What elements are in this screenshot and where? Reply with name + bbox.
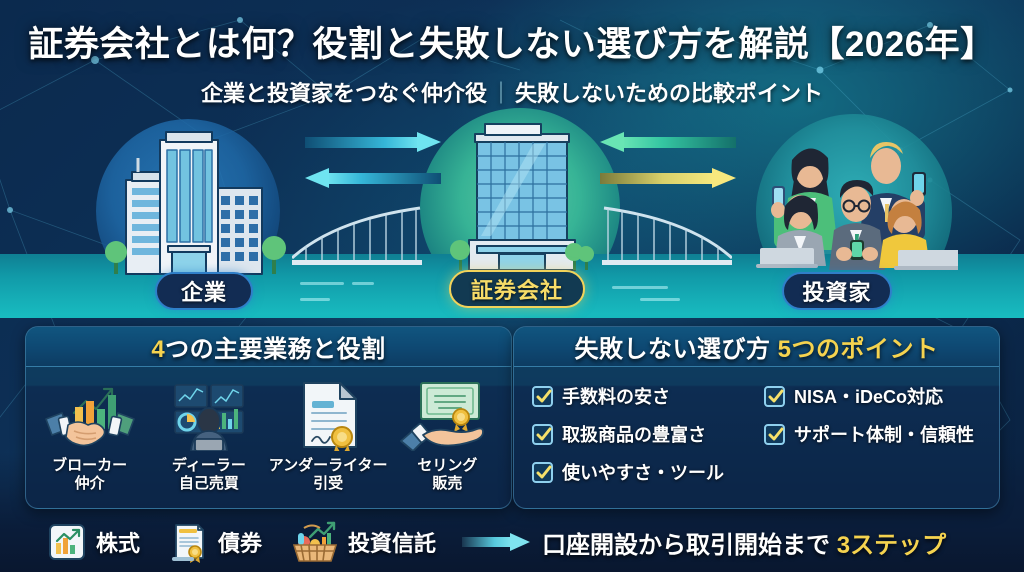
- subtitle-separator: ｜: [487, 81, 515, 106]
- role-item-underwriter[interactable]: アンダーライター 引受: [269, 375, 388, 504]
- cta-label: 口座開設から取引開始まで 3ステップ: [542, 525, 946, 560]
- panel-selection-points: 失敗しない選び方 5つのポイント 手数料の安さ NISA・iDeCo対応: [513, 326, 1000, 509]
- water-line: [352, 282, 374, 285]
- subtitle-left: 企業と投資家をつなぐ仲介役: [201, 81, 487, 106]
- role-item-dealer-caption: ディーラー 自己売買: [172, 457, 246, 492]
- points-title-text: 失敗しない選び方: [574, 336, 777, 363]
- role-label-line1: ディーラー: [172, 457, 246, 475]
- checkbox-icon[interactable]: [764, 424, 785, 445]
- node-label-securities-firm[interactable]: 証券会社: [449, 270, 585, 308]
- cta-step-count: 3: [837, 532, 850, 559]
- cta-arrow-icon: [462, 533, 530, 551]
- node-label-investor[interactable]: 投資家: [782, 272, 892, 310]
- checklist-label: 使いやすさ・ツール: [562, 459, 724, 485]
- cta-text-tail: ステップ: [850, 532, 946, 559]
- cta-steps[interactable]: 口座開設から取引開始まで 3ステップ: [462, 525, 946, 560]
- checkbox-icon[interactable]: [532, 462, 553, 483]
- checklist-label: 取扱商品の豊富さ: [562, 421, 706, 447]
- cta-text-main: 口座開設から取引開始まで: [542, 532, 837, 559]
- checklist-label: サポート体制・信頼性: [794, 421, 974, 447]
- panel-main-roles-header: 4つの主要業務と役割: [26, 327, 511, 367]
- office-buildings-icon: [92, 128, 292, 278]
- bottom-bar: 株式: [0, 512, 1024, 572]
- investors-group-icon: [752, 124, 958, 276]
- basket-icon: [292, 521, 338, 563]
- product-name: 債券: [218, 526, 262, 558]
- bar-chart-icon: [48, 523, 86, 561]
- document-seal-icon: [280, 375, 376, 455]
- panel-selection-points-header: 失敗しない選び方 5つのポイント: [514, 327, 999, 367]
- panel-main-roles-title: 4つの主要業務と役割: [151, 329, 385, 364]
- panel-main-roles: 4つの主要業務と役割: [25, 326, 512, 509]
- checklist-item-product-variety[interactable]: 取扱商品の豊富さ: [532, 415, 764, 453]
- bridge-right-icon: [602, 206, 732, 276]
- checklist-item-fees[interactable]: 手数料の安さ: [532, 377, 764, 415]
- role-label-line2: 販売: [417, 475, 477, 493]
- product-item-funds[interactable]: 投資信託: [292, 521, 436, 563]
- panel-selection-points-title: 失敗しない選び方 5つのポイント: [574, 329, 938, 364]
- checkbox-icon[interactable]: [532, 424, 553, 445]
- role-item-underwriter-caption: アンダーライター 引受: [269, 457, 388, 492]
- water-line: [300, 282, 344, 285]
- arrow-firm-to-corp-icon: [305, 168, 441, 189]
- role-label-line1: アンダーライター: [269, 457, 388, 475]
- points-count: 5: [778, 336, 792, 363]
- roles-grid: ブローカー 仲介: [26, 367, 511, 509]
- glass-tower-icon: [447, 118, 597, 278]
- checklist-item-nisa-ideco[interactable]: NISA・iDeCo対応: [764, 377, 986, 415]
- arrow-firm-to-investor-icon: [600, 168, 736, 189]
- arrow-corp-to-firm-icon: [305, 132, 441, 153]
- trading-desk-icon: [161, 375, 257, 455]
- role-item-selling[interactable]: セリング 販売: [388, 375, 507, 504]
- role-label-line2: 自己売買: [172, 475, 246, 493]
- product-name: 株式: [96, 526, 140, 558]
- roles-title-text: つの主要業務と役割: [165, 336, 386, 363]
- arrow-investor-to-firm-icon: [600, 132, 736, 153]
- role-item-selling-caption: セリング 販売: [417, 457, 477, 492]
- water-line: [300, 298, 330, 301]
- product-item-bonds[interactable]: 債券: [170, 521, 262, 563]
- checkbox-icon[interactable]: [764, 386, 785, 407]
- page-title: 証券会社とは何？役割と失敗しない選び方を解説【2026年】: [0, 16, 1024, 67]
- role-label-line2: 引受: [269, 475, 388, 493]
- infographic-canvas: 証券会社とは何？役割と失敗しない選び方を解説【2026年】 企業と投資家をつなぐ…: [0, 0, 1024, 572]
- node-label-corporate[interactable]: 企業: [155, 272, 253, 310]
- panel-main-roles-body: ブローカー 仲介: [26, 367, 511, 509]
- water-line: [612, 286, 668, 289]
- water-line: [640, 298, 680, 301]
- role-label-line1: セリング: [417, 457, 477, 475]
- role-item-dealer[interactable]: ディーラー 自己売買: [149, 375, 268, 504]
- handshake-growth-icon: [42, 375, 138, 455]
- panel-selection-points-body: 手数料の安さ NISA・iDeCo対応 取扱商品の豊富さ: [514, 367, 999, 509]
- roles-count: 4: [151, 336, 165, 363]
- points-title-tail: つのポイント: [792, 336, 939, 363]
- subtitle-right: 失敗しないための比較ポイント: [515, 81, 823, 106]
- bridge-left-icon: [292, 206, 422, 276]
- product-name: 投資信託: [348, 526, 436, 558]
- role-label-line1: ブローカー: [52, 457, 127, 475]
- checklist-item-support-trust[interactable]: サポート体制・信頼性: [764, 415, 986, 453]
- checklist-label: NISA・iDeCo対応: [794, 383, 943, 409]
- header: 証券会社とは何？役割と失敗しない選び方を解説【2026年】 企業と投資家をつなぐ…: [0, 0, 1024, 106]
- role-label-line2: 仲介: [52, 475, 127, 493]
- product-list: 株式: [0, 521, 436, 563]
- role-item-broker[interactable]: ブローカー 仲介: [30, 375, 149, 504]
- checklist-label: 手数料の安さ: [562, 383, 670, 409]
- checklist-item-usability-tools[interactable]: 使いやすさ・ツール: [532, 453, 764, 491]
- flow-diagram: 企業 証券会社 投資家: [0, 106, 1024, 318]
- checkbox-icon[interactable]: [532, 386, 553, 407]
- page-subtitle: 企業と投資家をつなぐ仲介役｜失敗しないための比較ポイント: [0, 76, 1024, 108]
- hand-certificate-icon: [399, 375, 495, 455]
- role-item-broker-caption: ブローカー 仲介: [52, 457, 127, 492]
- bond-certificate-icon: [170, 521, 208, 563]
- product-item-stocks[interactable]: 株式: [48, 523, 140, 561]
- selection-checklist: 手数料の安さ NISA・iDeCo対応 取扱商品の豊富さ: [514, 367, 999, 509]
